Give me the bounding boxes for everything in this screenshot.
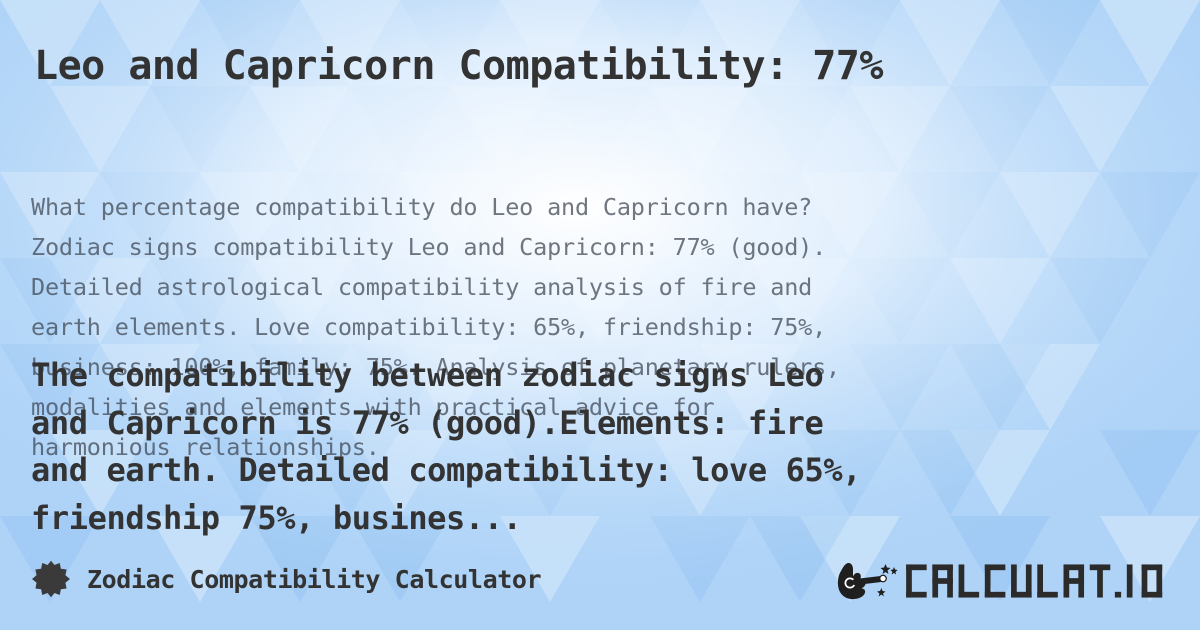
summary-line: The compatibility between zodiac signs L… <box>31 352 1171 400</box>
summary-line: and earth. Detailed compatibility: love … <box>31 447 1171 495</box>
brand-block: Zodiac Compatibility Calculator <box>32 560 541 598</box>
summary-line: and Capricorn is 77% (good).Elements: fi… <box>31 400 1171 448</box>
brand-label: Zodiac Compatibility Calculator <box>87 565 541 594</box>
calculatio-logo[interactable]: CALCULAT.IO <box>835 559 1173 603</box>
magic-wand-hand-icon <box>835 559 901 603</box>
summary-overlay: The compatibility between zodiac signs L… <box>31 352 1171 542</box>
footer: Zodiac Compatibility Calculator <box>0 550 1200 630</box>
summary-line: friendship 75%, busines... <box>31 495 1171 543</box>
description-line: What percentage compatibility do Leo and… <box>31 187 1141 227</box>
starburst-icon <box>32 560 70 598</box>
description-line: Detailed astrological compatibility anal… <box>31 267 1141 307</box>
description-line: earth elements. Love compatibility: 65%,… <box>31 307 1141 347</box>
logo-wordmark <box>905 563 1173 599</box>
page-title: Leo and Capricorn Compatibility: 77% <box>34 43 1174 89</box>
description-line: Zodiac signs compatibility Leo and Capri… <box>31 227 1141 267</box>
